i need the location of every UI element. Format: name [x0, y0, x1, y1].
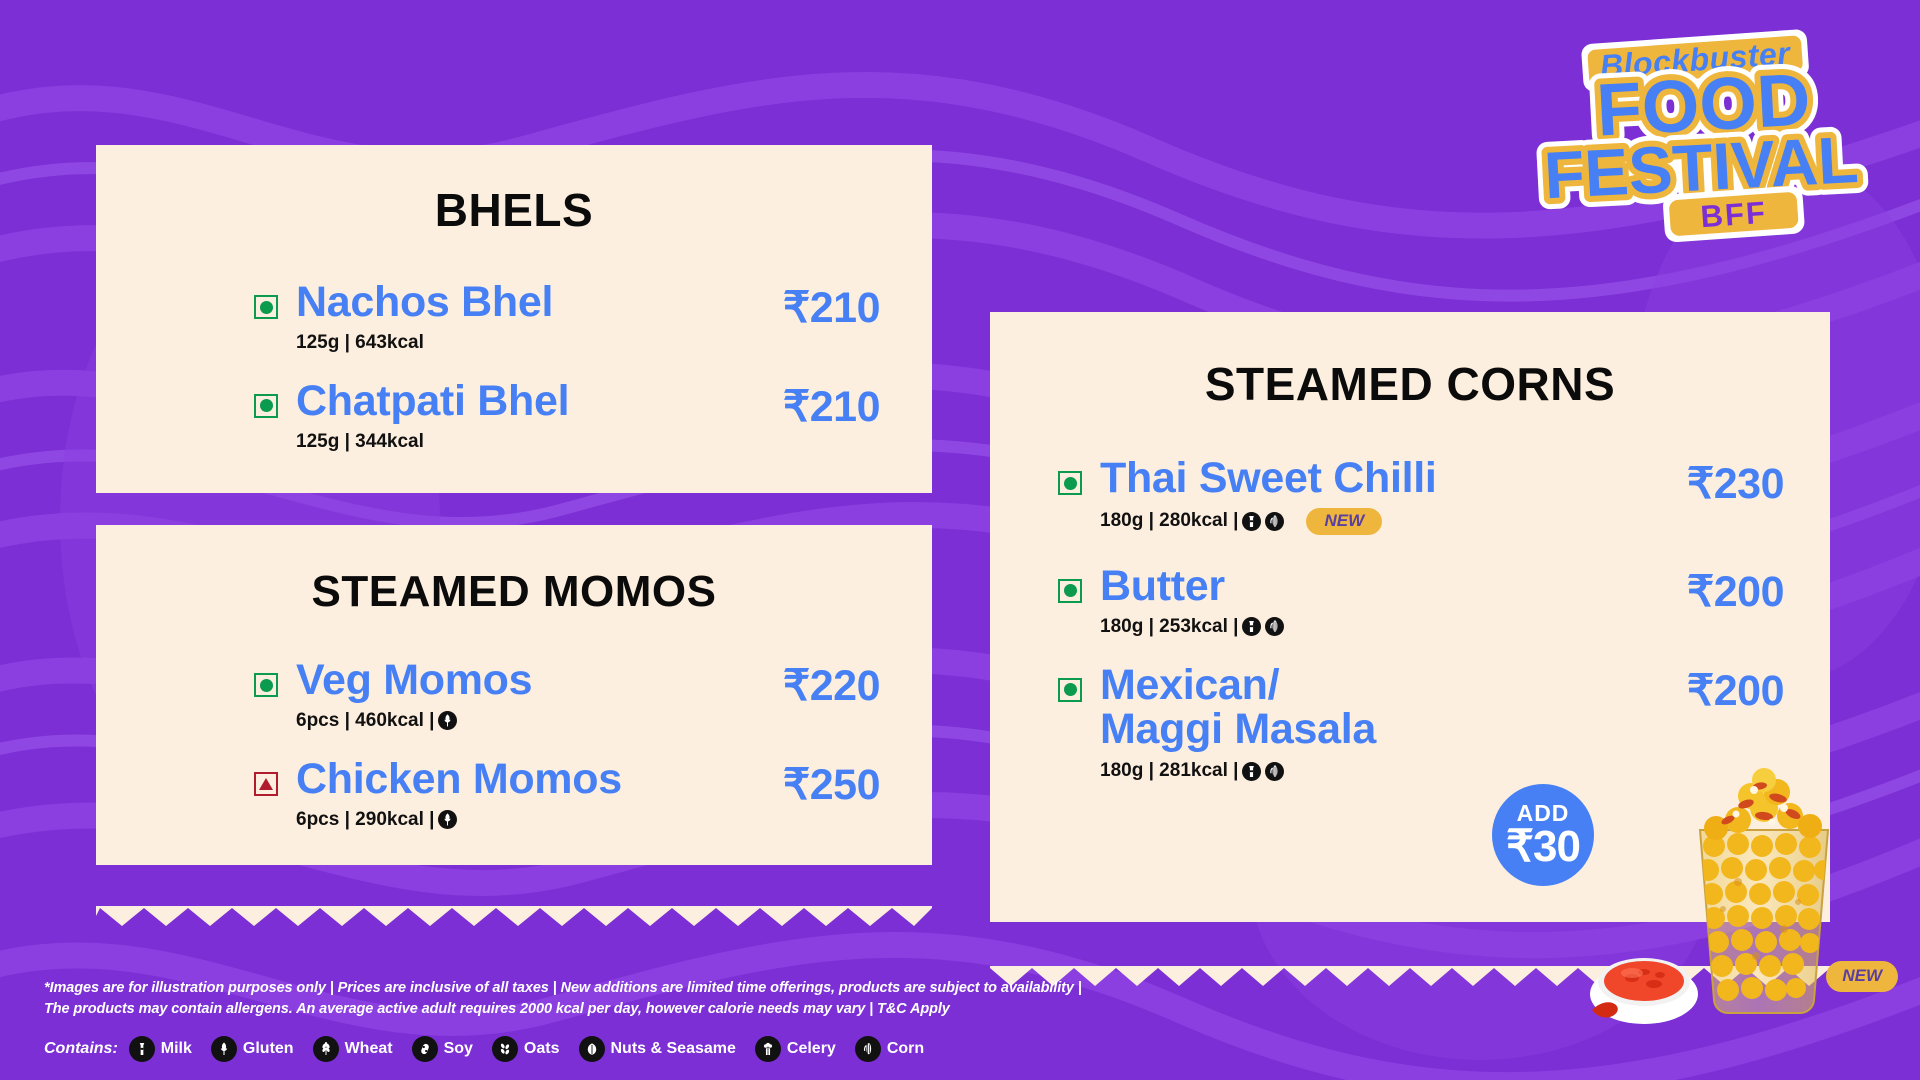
item-name: Chicken Momos: [296, 758, 622, 802]
legend-item: Nuts & Seasame: [579, 1036, 736, 1062]
gluten-icon: [438, 711, 457, 730]
milk-icon: [1242, 617, 1261, 636]
veg-mark-icon: [1058, 579, 1082, 603]
disclaimer-line1: *Images are for illustration purposes on…: [44, 978, 1604, 999]
menu-row[interactable]: Veg Momos 6pcs | 460kcal |: [254, 659, 880, 732]
item-name: Mexican/ Maggi Masala: [1100, 664, 1376, 752]
gluten-icon: [438, 810, 457, 829]
item-price: ₹230: [1687, 459, 1784, 509]
disclaimer-line2: The products may contain allergens. An a…: [44, 999, 1604, 1020]
legend-item: Celery: [755, 1036, 836, 1062]
legend-item: Soy: [412, 1036, 473, 1062]
section-card-bhels: BHELS Nachos Bhel 125g | 643kcal ₹210: [96, 145, 932, 493]
add-price-badge[interactable]: ADD ₹30: [1492, 784, 1594, 886]
legend-label: Milk: [161, 1040, 192, 1058]
item-name: Veg Momos: [296, 659, 532, 703]
corn-icon: [1265, 617, 1284, 636]
item-meta: 125g | 344kcal: [296, 431, 569, 453]
milk-icon: [1242, 762, 1261, 781]
legend-label: Soy: [444, 1040, 473, 1058]
milk-icon: [1242, 512, 1261, 531]
item-meta: 6pcs | 290kcal |: [296, 809, 622, 831]
menu-row[interactable]: Nachos Bhel 125g | 643kcal ₹210: [254, 281, 880, 354]
legend-item: Milk: [129, 1036, 192, 1062]
corn-icon: [855, 1036, 881, 1062]
footer: *Images are for illustration purposes on…: [44, 978, 1604, 1062]
item-name: Nachos Bhel: [296, 281, 553, 325]
item-price: ₹250: [783, 760, 880, 810]
bff-logo: Blockbuster FOOD FOOD FOOD FESTIVAL FEST…: [1504, 14, 1904, 244]
item-name: Thai Sweet Chilli: [1100, 457, 1437, 501]
veg-mark-icon: [254, 394, 278, 418]
section-title-bhels: BHELS: [96, 183, 932, 237]
contains-label: Contains:: [44, 1040, 118, 1058]
legend-item: Wheat: [313, 1036, 393, 1062]
legend-label: Oats: [524, 1040, 560, 1058]
item-price: ₹200: [1687, 567, 1784, 617]
item-price: ₹210: [783, 283, 880, 333]
section-title-steamed-momos: STEAMED MOMOS: [96, 567, 932, 617]
corn-icon: [1265, 762, 1284, 781]
product-new-badge: NEW: [1826, 961, 1898, 992]
item-meta: 180g | 253kcal |: [1100, 616, 1284, 638]
nonveg-mark-icon: [254, 772, 278, 796]
soy-icon: [412, 1036, 438, 1062]
legend-label: Wheat: [345, 1040, 393, 1058]
item-meta-text: 6pcs | 290kcal |: [296, 809, 434, 831]
add-badge-amount: ₹30: [1506, 825, 1580, 868]
menu-row[interactable]: Chatpati Bhel 125g | 344kcal ₹210: [254, 380, 880, 453]
item-meta-text: 6pcs | 460kcal |: [296, 710, 434, 732]
legend-label: Nuts & Seasame: [611, 1040, 736, 1058]
item-meta-text: 180g | 281kcal |: [1100, 760, 1238, 782]
item-meta: 180g | 281kcal |: [1100, 760, 1376, 782]
celery-icon: [755, 1036, 781, 1062]
item-meta-text: 180g | 280kcal |: [1100, 510, 1238, 532]
item-meta: 180g | 280kcal |: [1100, 508, 1437, 535]
item-price: ₹210: [783, 382, 880, 432]
veg-mark-icon: [1058, 678, 1082, 702]
oats-icon: [492, 1036, 518, 1062]
menu-row[interactable]: Chicken Momos 6pcs | 290kcal |: [254, 758, 880, 831]
legend-item: Gluten: [211, 1036, 294, 1062]
veg-mark-icon: [254, 673, 278, 697]
gluten-icon: [211, 1036, 237, 1062]
section-title-steamed-corns: STEAMED CORNS: [990, 357, 1830, 411]
item-meta-text: 125g | 643kcal: [296, 332, 424, 354]
item-meta: 6pcs | 460kcal |: [296, 710, 532, 732]
card-zigzag-edge: [96, 906, 932, 926]
allergen-legend: Contains: Milk Gluten: [44, 1036, 1604, 1062]
legend-item: Corn: [855, 1036, 924, 1062]
legend-label: Corn: [887, 1040, 924, 1058]
item-meta: 125g | 643kcal: [296, 332, 553, 354]
legend-label: Celery: [787, 1040, 836, 1058]
menu-row[interactable]: Butter 180g | 253kcal |: [1058, 565, 1784, 638]
item-name: Butter: [1100, 565, 1284, 609]
corn-icon: [1265, 512, 1284, 531]
veg-mark-icon: [254, 295, 278, 319]
logo-line4: BFF: [1699, 195, 1768, 235]
new-badge: NEW: [1306, 508, 1382, 535]
menu-row[interactable]: Thai Sweet Chilli 180g | 280kcal |: [1058, 457, 1784, 535]
item-price: ₹220: [783, 661, 880, 711]
section-card-steamed-momos: STEAMED MOMOS Veg Momos 6pcs | 460kcal |: [96, 525, 932, 865]
item-name: Chatpati Bhel: [296, 380, 569, 424]
milk-icon: [129, 1036, 155, 1062]
item-meta-text: 125g | 344kcal: [296, 431, 424, 453]
veg-mark-icon: [1058, 471, 1082, 495]
legend-label: Gluten: [243, 1040, 294, 1058]
wheat-icon: [313, 1036, 339, 1062]
legend-item: Oats: [492, 1036, 560, 1062]
item-meta-text: 180g | 253kcal |: [1100, 616, 1238, 638]
nuts-icon: [579, 1036, 605, 1062]
